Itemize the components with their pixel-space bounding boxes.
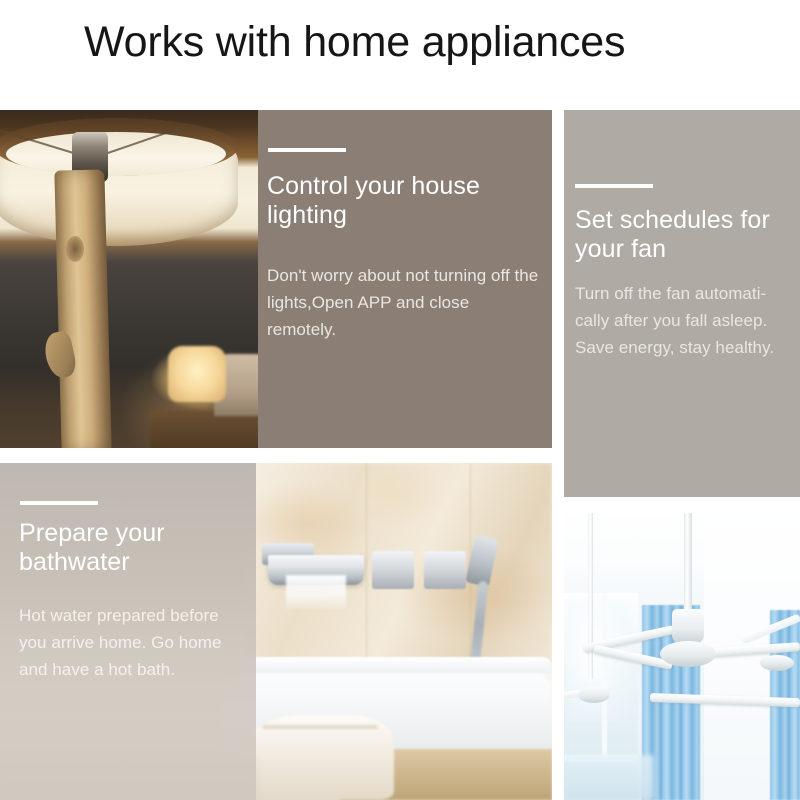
- fan-schedule-heading: Set schedules for your fan: [575, 206, 791, 264]
- background-lamp-glow-shape: [168, 346, 226, 402]
- running-water-shape: [286, 575, 346, 609]
- secondary-fan-downrod-shape: [588, 513, 593, 679]
- lamp-shade-inner-shape: [6, 132, 226, 176]
- third-fan-hub-shape: [760, 655, 794, 671]
- accent-rule-icon: [20, 501, 98, 505]
- lamp-wood-knot-shape: [66, 236, 84, 262]
- towel-ridge-shape: [262, 725, 378, 729]
- fan-schedule-text-panel: Set schedules for your fan Turn off the …: [564, 110, 800, 497]
- ceiling-fan-downrod-shape: [684, 513, 692, 611]
- ceiling-fan-photo: [564, 505, 800, 800]
- bathwater-body-text: Hot water prepared before you arrive hom…: [19, 602, 247, 683]
- accent-rule-icon: [575, 184, 653, 188]
- accent-rule-icon: [268, 148, 346, 152]
- lighting-photo: [0, 110, 258, 448]
- secondary-fan-hub-shape: [578, 687, 610, 703]
- window-mullion-shape: [602, 593, 607, 758]
- bathtub-rim-shape: [224, 657, 552, 673]
- tile-seam-shape: [366, 463, 367, 663]
- page-title: Works with home appliances: [84, 16, 784, 68]
- ceiling-fan-hub-shape: [660, 641, 716, 667]
- window-bottom-glow-shape: [564, 755, 654, 800]
- window-daylight-glow-shape: [566, 601, 632, 721]
- bathwater-text-overlay: Prepare your bathwater Hot water prepare…: [0, 463, 256, 800]
- lighting-text-panel: Control your house lighting Don't worry …: [258, 110, 552, 448]
- appliance-feature-infographic: Works with home appliances Control your …: [0, 0, 800, 800]
- lamp-driftwood-base-shape: [54, 169, 111, 448]
- lighting-body-text: Don't worry about not turning off the li…: [267, 262, 539, 343]
- lighting-heading: Control your house lighting: [267, 172, 535, 230]
- ceiling-fan-motor-shape: [672, 609, 704, 643]
- fan-schedule-body-text: Turn off the fan automati-cally after yo…: [575, 280, 793, 361]
- bathwater-heading: Prepare your bathwater: [19, 519, 245, 577]
- faucet-valve-shape: [372, 551, 414, 589]
- faucet-valve-shape: [424, 551, 466, 589]
